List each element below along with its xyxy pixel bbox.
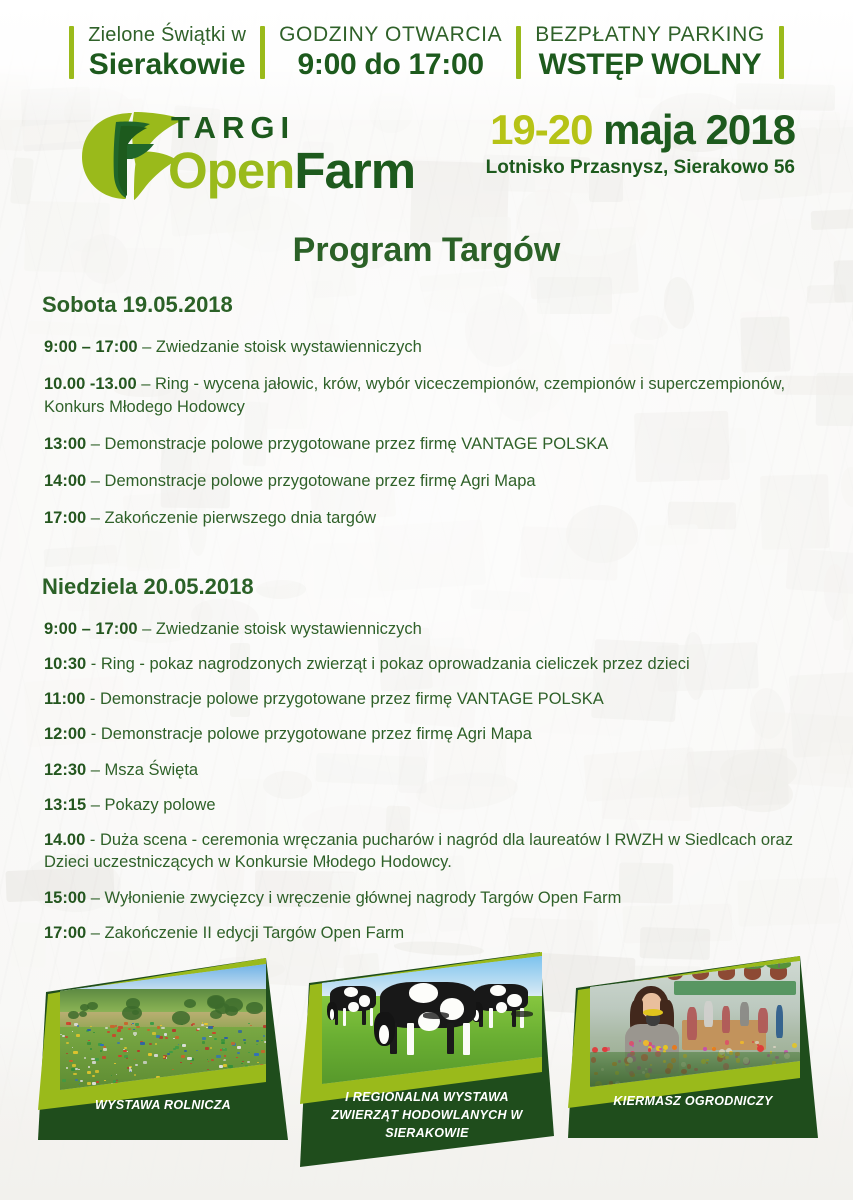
- logo-wordmark: TARGI OpenFarm: [168, 112, 415, 196]
- schedule-item: 10:30 - Ring - pokaz nagrodzonych zwierz…: [44, 653, 828, 675]
- card-wystawa-zwierzat[interactable]: I REGIONALNA WYSTAWA ZWIERZĄT HODOWLANYC…: [300, 952, 554, 1167]
- schedule-item-time: 13:00: [44, 435, 86, 453]
- day-heading-sunday: Niedziela 20.05.2018: [42, 574, 828, 600]
- schedule-item-time: 9:00 – 17:00: [44, 620, 138, 638]
- schedule-item-time: 13:15: [44, 796, 86, 814]
- schedule-item-text: - Demonstracje polowe przygotowane przez…: [86, 725, 532, 743]
- holiday-label: Zielone Świątki w: [88, 25, 246, 46]
- band-col-parking: BEZPŁATNY PARKING WSTĘP WOLNY: [535, 24, 765, 81]
- logo-row: TARGI OpenFarm 19-20 maja 2018 Lotnisko …: [0, 108, 853, 206]
- schedule-item-time: 11:00: [44, 690, 85, 708]
- schedule-item-time: 17:00: [44, 509, 86, 527]
- schedule-item: 14.00 - Duża scena - ceremonia wręczania…: [44, 829, 828, 874]
- schedule-item: 11:00 - Demonstracje polowe przygotowane…: [44, 688, 828, 710]
- schedule-item: 13:00 – Demonstracje polowe przygotowane…: [44, 433, 828, 455]
- logo-farm-text: Farm: [294, 142, 415, 199]
- event-date-block: 19-20 maja 2018 Lotnisko Przasnysz, Sier…: [486, 108, 795, 179]
- schedule-item-time: 9:00 – 17:00: [44, 338, 138, 356]
- event-location: Lotnisko Przasnysz, Sierakowo 56: [486, 157, 795, 179]
- card-caption: I REGIONALNA WYSTAWA ZWIERZĄT HODOWLANYC…: [300, 1088, 554, 1142]
- schedule-item: 15:00 – Wyłonienie zwycięzcy i wręczenie…: [44, 887, 828, 909]
- schedule-item-time: 10:30: [44, 655, 86, 673]
- card-caption: WYSTAWA ROLNICZA: [38, 1096, 288, 1114]
- holiday-place: Sierakowie: [89, 48, 246, 81]
- entry-free-label: WSTĘP WOLNY: [539, 48, 762, 81]
- schedule-item-text: – Ring - wycena jałowic, krów, wybór vic…: [44, 375, 785, 415]
- band-divider: [260, 26, 265, 79]
- band-divider: [779, 26, 784, 79]
- band-divider: [69, 26, 74, 79]
- day-heading-saturday: Sobota 19.05.2018: [42, 292, 828, 318]
- schedule-item: 17:00 – Zakończenie II edycji Targów Ope…: [44, 922, 828, 944]
- logo-targi-text: TARGI: [171, 112, 415, 143]
- schedule-item-time: 12:30: [44, 761, 86, 779]
- logo-openfarm-text: OpenFarm: [168, 145, 415, 196]
- top-info-band: Zielone Świątki w Sierakowie GODZINY OTW…: [0, 24, 853, 81]
- schedule-item-text: - Duża scena - ceremonia wręczania pucha…: [44, 831, 793, 871]
- schedule-item-text: – Msza Święta: [86, 761, 198, 779]
- schedule-item: 12:00 - Demonstracje polowe przygotowane…: [44, 723, 828, 745]
- hours-value: 9:00 do 17:00: [298, 48, 484, 81]
- schedule-item: 9:00 – 17:00 – Zwiedzanie stoisk wystawi…: [44, 336, 828, 358]
- card-wystawa-rolnicza[interactable]: WYSTAWA ROLNICZA: [38, 958, 288, 1140]
- highlight-cards: WYSTAWA ROLNICZA I REGIONALNA WYSTAWA ZW…: [0, 952, 853, 1200]
- card-caption: KIERMASZ OGRODNICZY: [568, 1092, 818, 1110]
- schedule-item-text: – Pokazy polowe: [86, 796, 215, 814]
- schedule: Sobota 19.05.2018 9:00 – 17:00 – Zwiedza…: [38, 292, 828, 957]
- schedule-item-text: – Demonstracje polowe przygotowane przez…: [86, 435, 608, 453]
- schedule-item: 13:15 – Pokazy polowe: [44, 794, 828, 816]
- schedule-item-text: – Zakończenie II edycji Targów Open Farm: [86, 924, 404, 942]
- schedule-item-text: – Wyłonienie zwycięzcy i wręczenie główn…: [86, 889, 621, 907]
- schedule-item-time: 14:00: [44, 472, 86, 490]
- event-date-days: 19-20: [490, 106, 592, 153]
- schedule-item-time: 17:00: [44, 924, 86, 942]
- poster-root: Zielone Świątki w Sierakowie GODZINY OTW…: [0, 0, 853, 1200]
- band-col-hours: GODZINY OTWARCIA 9:00 do 17:00: [279, 24, 502, 81]
- schedule-item-text: - Demonstracje polowe przygotowane przez…: [85, 690, 603, 708]
- schedule-item-text: – Zakończenie pierwszego dnia targów: [86, 509, 376, 527]
- schedule-item-time: 12:00: [44, 725, 86, 743]
- schedule-item-text: – Demonstracje polowe przygotowane przez…: [86, 472, 535, 490]
- schedule-item-text: - Ring - pokaz nagrodzonych zwierząt i p…: [86, 655, 689, 673]
- schedule-item-text: – Zwiedzanie stoisk wystawienniczych: [138, 620, 422, 638]
- event-date-month-year: maja 2018: [592, 106, 795, 153]
- program-title: Program Targów: [0, 231, 853, 270]
- parking-label: BEZPŁATNY PARKING: [535, 24, 765, 46]
- hours-label: GODZINY OTWARCIA: [279, 24, 502, 46]
- schedule-item: 14:00 – Demonstracje polowe przygotowane…: [44, 470, 828, 492]
- event-date: 19-20 maja 2018: [486, 108, 795, 152]
- logo-open-text: Open: [168, 142, 294, 199]
- band-col-holiday: Zielone Świątki w Sierakowie: [88, 24, 246, 81]
- schedule-item-time: 14.00: [44, 831, 85, 849]
- schedule-item: 12:30 – Msza Święta: [44, 759, 828, 781]
- schedule-item-time: 10.00 -13.00: [44, 375, 137, 393]
- band-divider: [516, 26, 521, 79]
- schedule-item: 17:00 – Zakończenie pierwszego dnia targ…: [44, 507, 828, 529]
- schedule-item: 10.00 -13.00 – Ring - wycena jałowic, kr…: [44, 373, 828, 418]
- schedule-item-time: 15:00: [44, 889, 86, 907]
- schedule-item-text: – Zwiedzanie stoisk wystawienniczych: [138, 338, 422, 356]
- schedule-item: 9:00 – 17:00 – Zwiedzanie stoisk wystawi…: [44, 618, 828, 640]
- card-kiermasz-ogrodniczy[interactable]: KIERMASZ OGRODNICZY: [568, 956, 818, 1138]
